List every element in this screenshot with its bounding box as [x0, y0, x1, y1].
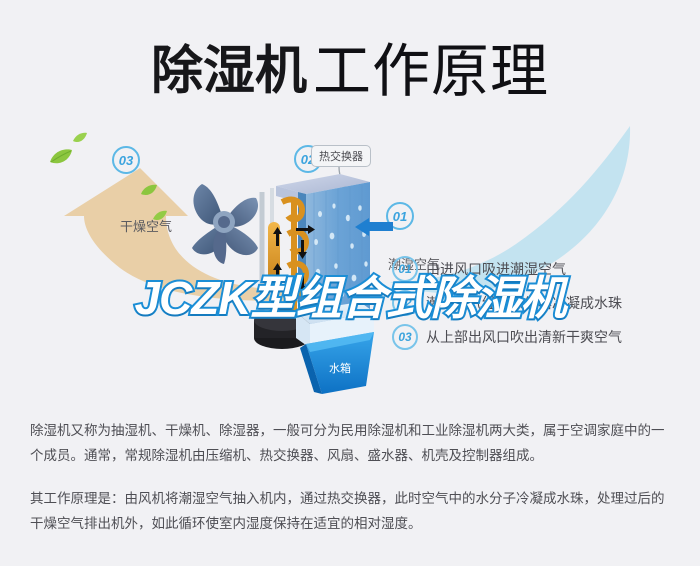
svg-text:水箱: 水箱 — [329, 361, 351, 375]
product-wordmark-overlay: JCZK型组合式除湿机 — [0, 262, 700, 328]
page-title: 除湿机工作原理 — [0, 24, 700, 108]
inlet-arrow-icon — [355, 218, 393, 236]
leaf-icon — [140, 184, 158, 197]
leaf-icon — [48, 148, 74, 166]
legend-text-03: 从上部出风口吹出清新干爽空气 — [426, 327, 622, 347]
description-copy: 除湿机又称为抽湿机、干燥机、除湿器，一般可分为民用除湿机和工业除湿机两大类，属于… — [30, 418, 672, 554]
page-title-part1: 除湿机 — [151, 43, 307, 101]
leaf-icon — [72, 132, 88, 144]
diagram-badge-03: 03 — [112, 146, 140, 174]
page-title-part2: 工作原理 — [313, 39, 549, 104]
description-paragraph-1: 除湿机又称为抽湿机、干燥机、除湿器，一般可分为民用除湿机和工业除湿机两大类，属于… — [30, 418, 672, 468]
description-paragraph-2: 其工作原理是：由风机将潮湿空气抽入机内，通过热交换器，此时空气中的水分子冷凝成水… — [30, 486, 672, 536]
dry-air-label: 干燥空气 — [120, 216, 172, 235]
poster-root: 除湿机工作原理 — [0, 0, 700, 566]
